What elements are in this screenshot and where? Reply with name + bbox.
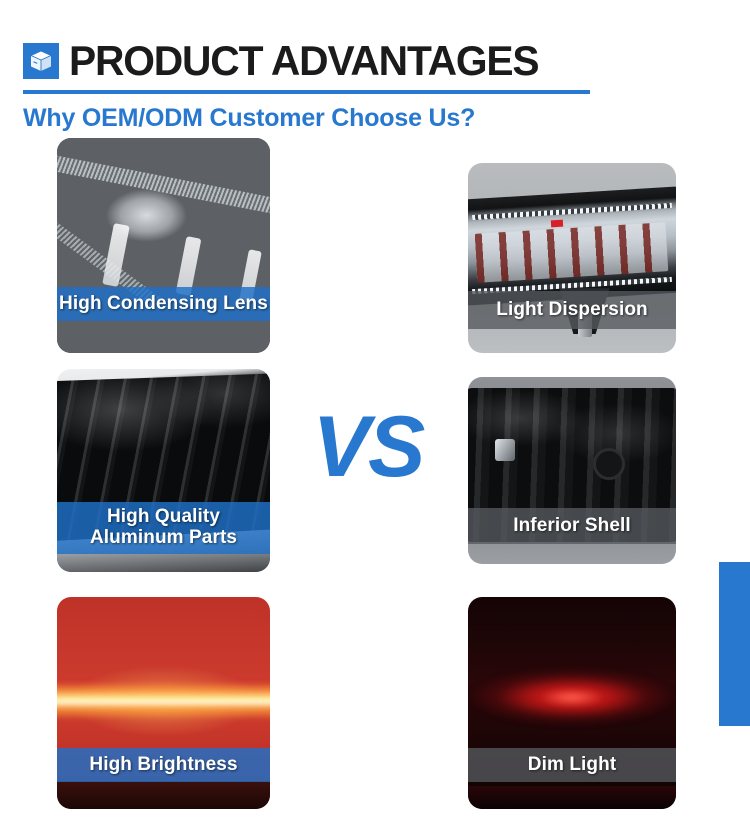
title-row: PRODUCT ADVANTAGES	[23, 38, 623, 84]
advantage-card-bad-3[interactable]: Dim Light	[468, 597, 676, 809]
page-subtitle: Why OEM/ODM Customer Choose Us?	[23, 104, 623, 133]
comparison-row-3: High Brightness Dim Light	[0, 597, 750, 819]
advantage-card-good-1[interactable]: High Condensing Lens	[57, 138, 270, 353]
page-header: PRODUCT ADVANTAGES Why OEM/ODM Customer …	[23, 38, 623, 133]
versus-badge: VS	[288, 404, 448, 490]
disadvantage-label-3: Dim Light	[468, 748, 676, 782]
advantage-label-2-line1: High Quality	[107, 507, 220, 528]
product-box-icon	[23, 43, 59, 79]
disadvantage-label-1: Light Dispersion	[468, 291, 676, 329]
advantage-label-2-line2: Aluminum Parts	[90, 528, 237, 549]
advantage-card-good-2[interactable]: High Quality Aluminum Parts	[57, 369, 270, 572]
advantage-card-good-3[interactable]: High Brightness	[57, 597, 270, 809]
disadvantage-label-2: Inferior Shell	[468, 508, 676, 544]
title-underline	[23, 90, 590, 94]
page-title: PRODUCT ADVANTAGES	[69, 40, 538, 82]
advantage-label-1: High Condensing Lens	[57, 287, 270, 321]
advantage-card-bad-2[interactable]: Inferior Shell	[468, 377, 676, 564]
advantage-label-2: High Quality Aluminum Parts	[57, 502, 270, 554]
comparison-row-1: High Condensing Lens Light Dispersion	[0, 138, 750, 360]
advantage-label-3: High Brightness	[57, 748, 270, 782]
right-edge-blue-tab[interactable]	[719, 562, 750, 726]
advantage-card-bad-1[interactable]: Light Dispersion	[468, 163, 676, 353]
